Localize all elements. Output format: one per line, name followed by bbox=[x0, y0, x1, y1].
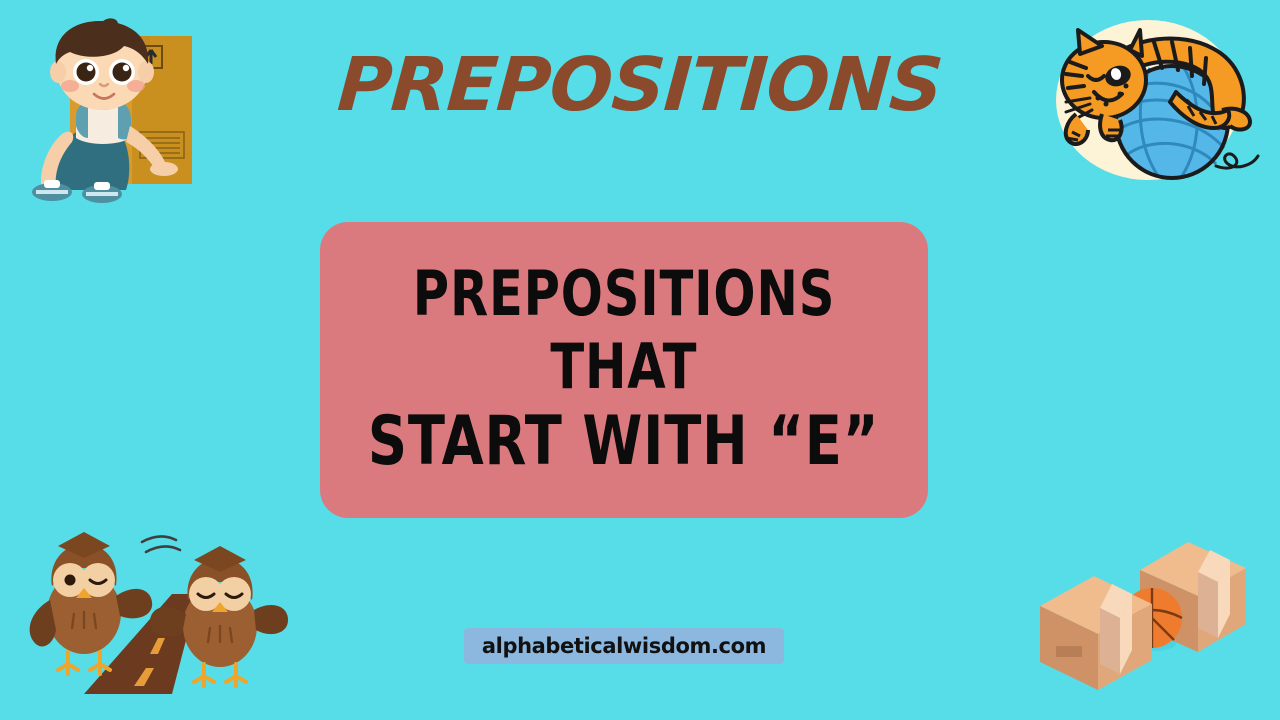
boxes-with-basketball-illustration bbox=[1034, 534, 1270, 706]
headline-card: PREPOSITIONS THAT START WITH “E” bbox=[320, 222, 928, 518]
headline-line-2: THAT bbox=[551, 335, 698, 399]
slide-canvas: PREPOSITIONS PREPOSITIONS THAT START WIT… bbox=[0, 0, 1280, 720]
headline-line-1: PREPOSITIONS bbox=[413, 262, 835, 326]
headline-line-3: START WITH “E” bbox=[368, 407, 879, 478]
owls-beside-road-illustration bbox=[22, 518, 294, 706]
website-badge: alphabeticalwisdom.com bbox=[464, 628, 784, 664]
website-url-text: alphabeticalwisdom.com bbox=[482, 634, 766, 658]
page-title: PREPOSITIONS bbox=[0, 48, 1280, 122]
